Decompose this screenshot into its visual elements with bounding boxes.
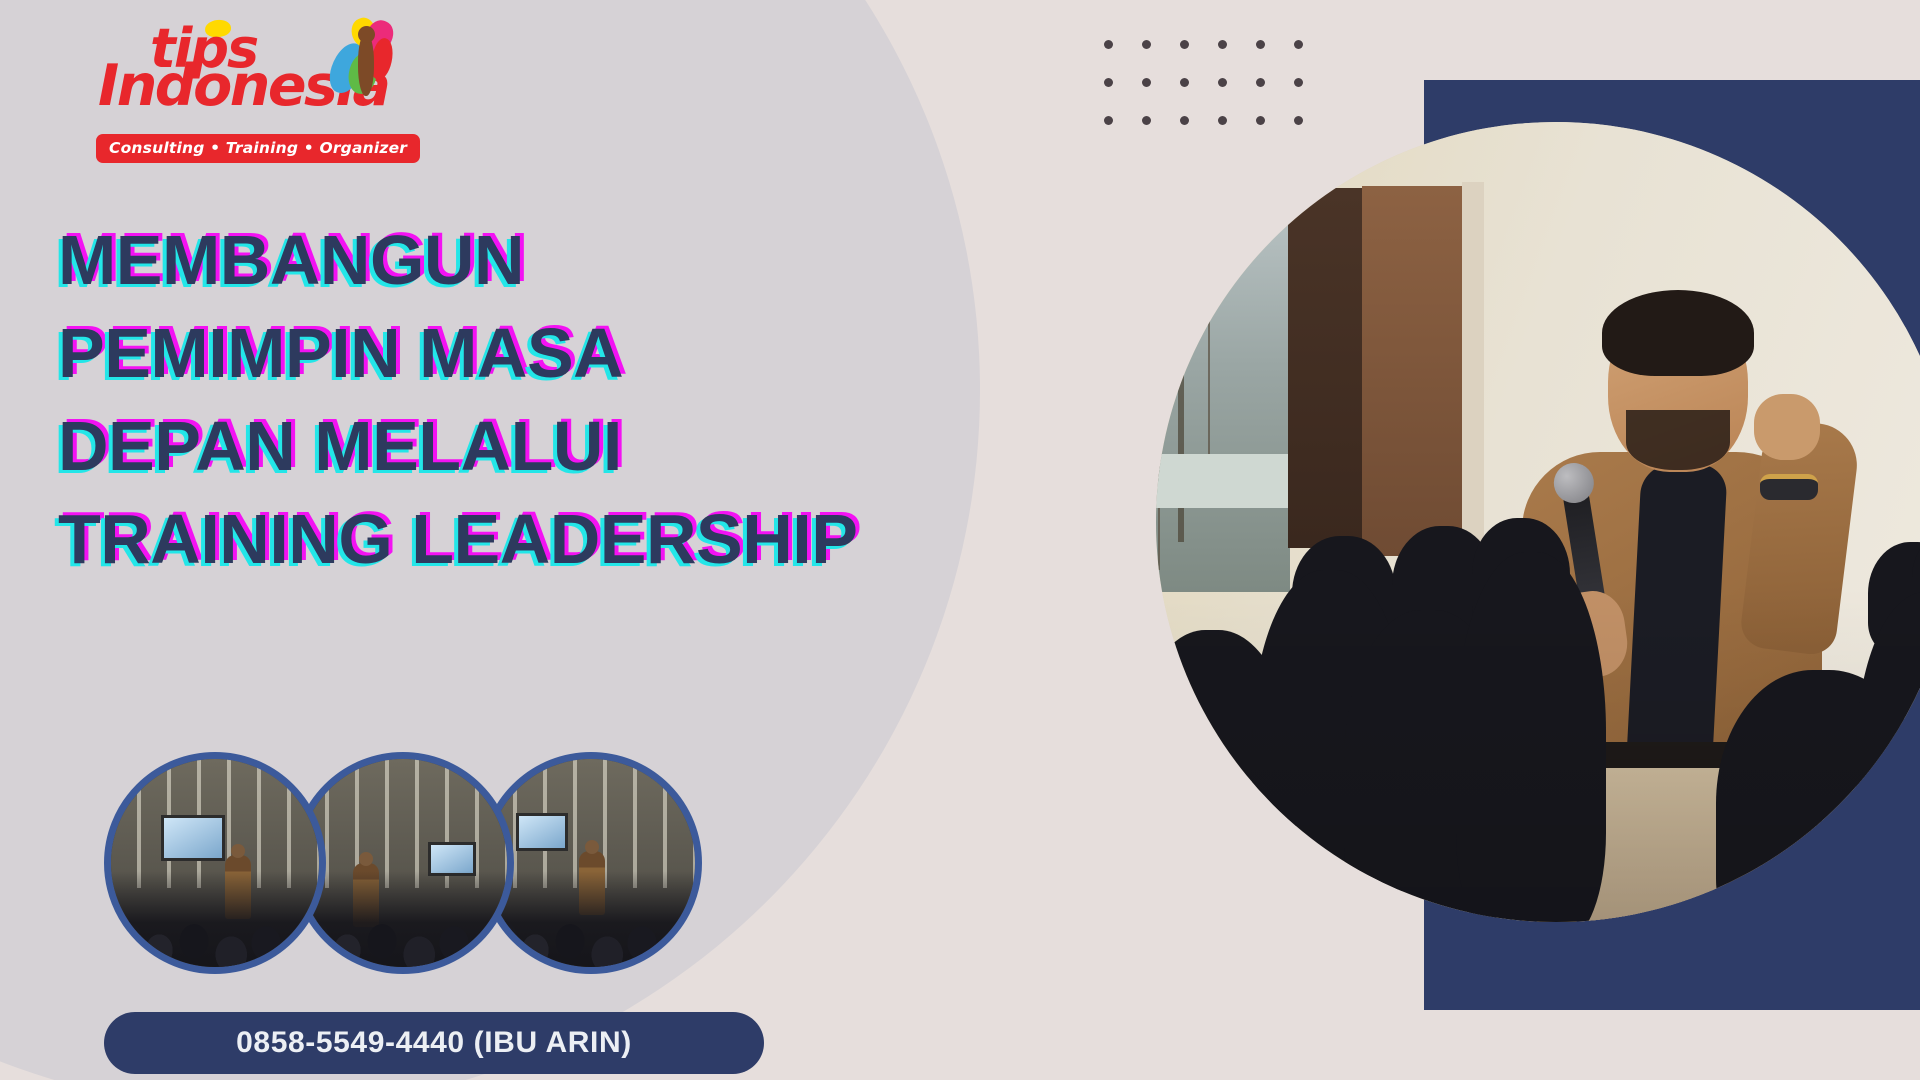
grid-dot [1218,78,1227,87]
grid-dot [1142,78,1151,87]
thumb-audience [104,871,326,974]
headline-line-1: MEMBANGUN [58,214,1098,307]
grid-dot [1180,40,1189,49]
headline-line-3: DEPAN MELALUI [58,400,1098,493]
logo-mark-head [358,26,375,43]
grid-dot [1104,40,1113,49]
grid-dot [1256,40,1265,49]
grid-dot [1104,78,1113,87]
page-title: MEMBANGUN PEMIMPIN MASA DEPAN MELALUI TR… [58,214,1098,586]
logo-mark-body [358,34,374,96]
poster-canvas: tips Indonesia Consulting • Training • O… [0,0,1920,1080]
thumb-audience [292,871,514,974]
grid-dot [1294,40,1303,49]
thumb-audience [480,871,702,974]
hero-photo-trainer [1156,122,1920,922]
grid-dot [1256,78,1265,87]
grid-dot [1104,116,1113,125]
logo-tagline: Consulting • Training • Organizer [96,134,420,163]
grid-dot [1180,78,1189,87]
grid-dot [1218,40,1227,49]
contact-phone-pill[interactable]: 0858-5549-4440 (IBU ARIN) [104,1012,764,1074]
gallery-thumbnails [104,752,668,974]
grid-dot [1294,78,1303,87]
thumb-projector-screen [161,815,225,861]
brand-logo[interactable]: tips Indonesia Consulting • Training • O… [104,16,384,158]
hero-vignette [1156,122,1920,922]
grid-dot [1142,116,1151,125]
grid-dot [1142,40,1151,49]
headline-line-2: PEMIMPIN MASA [58,307,1098,400]
contact-phone-label: 0858-5549-4440 (IBU ARIN) [236,1026,632,1060]
headline-line-4: TRAINING LEADERSHIP [58,493,1098,586]
thumb-projector-screen [516,813,568,851]
logo-person-mark-icon [332,16,394,96]
gallery-thumbnail-1[interactable] [104,752,326,974]
